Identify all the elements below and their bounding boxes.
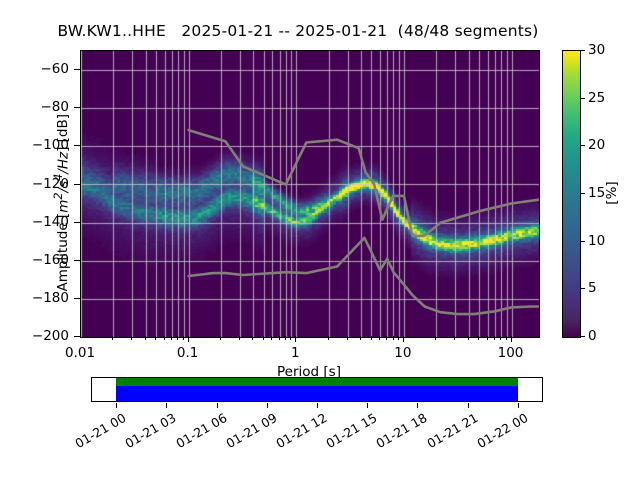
timeline-tick	[217, 403, 218, 408]
ppsd-axes[interactable]	[80, 50, 540, 338]
x-tick	[360, 336, 361, 340]
y-tick	[74, 107, 80, 108]
timeline-tick-label: 01-21 06	[173, 410, 229, 451]
y-tick	[74, 184, 80, 185]
x-tick	[155, 336, 156, 340]
x-tick	[478, 336, 479, 340]
x-tick	[220, 336, 221, 340]
timeline-tick-label: 01-21 18	[374, 410, 430, 451]
x-tick	[295, 336, 296, 342]
x-tick	[290, 336, 291, 340]
x-tick	[454, 336, 455, 340]
colorbar-tick-label: 5	[588, 280, 597, 296]
y-tick	[74, 69, 80, 70]
x-tick	[487, 336, 488, 340]
x-tick-label: 1	[291, 345, 300, 361]
timeline-tick-label: 01-21 12	[273, 410, 329, 451]
y-tick	[74, 260, 80, 261]
x-tick-label: 0.01	[65, 345, 95, 361]
colorbar-tick	[580, 50, 585, 51]
colorbar-tick	[580, 288, 585, 289]
colorbar-tick	[580, 145, 585, 146]
y-tick	[74, 145, 80, 146]
x-tick	[131, 336, 132, 340]
x-tick	[494, 336, 495, 340]
data-coverage-timeline[interactable]	[91, 377, 543, 402]
blue-coverage-bar[interactable]	[116, 386, 518, 401]
x-tick	[379, 336, 380, 340]
x-tick	[145, 336, 146, 340]
timeline-tick	[367, 403, 368, 408]
timeline-tick	[468, 403, 469, 408]
x-tick	[188, 336, 189, 342]
x-tick	[279, 336, 280, 340]
x-tick	[347, 336, 348, 340]
x-tick	[386, 336, 387, 340]
colorbar-tick-label: 0	[588, 328, 597, 344]
x-tick	[403, 336, 404, 342]
timeline-tick	[317, 403, 318, 408]
x-tick	[500, 336, 501, 340]
timeline-tick-label: 01-21 03	[123, 410, 179, 451]
timeline-tick	[518, 403, 519, 408]
x-tick	[177, 336, 178, 340]
green-coverage-bar[interactable]	[116, 378, 518, 386]
x-tick	[398, 336, 399, 340]
nlnm-curve	[189, 238, 539, 314]
y-tick	[74, 222, 80, 223]
colorbar-tick-label: 30	[588, 42, 605, 58]
x-tick	[393, 336, 394, 340]
timeline-tick	[417, 403, 418, 408]
timeline-tick-label: 01-22 00	[474, 410, 530, 451]
x-tick	[171, 336, 172, 340]
timeline-tick-label: 01-21 21	[424, 410, 480, 451]
y-tick	[74, 298, 80, 299]
x-tick-label: 10	[394, 345, 411, 361]
y-axis-title: Amplitude [m2/s4/Hz] [dB]	[51, 60, 71, 346]
colorbar-tick-label: 10	[588, 233, 605, 249]
x-tick	[271, 336, 272, 340]
colorbar-tick	[580, 241, 585, 242]
page-title: BW.KW1..HHE 2025-01-21 -- 2025-01-21 (48…	[0, 22, 596, 40]
colorbar-tick-label: 25	[588, 90, 605, 106]
x-tick-label: 0.1	[177, 345, 198, 361]
x-tick	[112, 336, 113, 340]
x-tick	[183, 336, 184, 340]
x-tick	[371, 336, 372, 340]
colorbar[interactable]	[562, 50, 581, 338]
timeline-tick	[166, 403, 167, 408]
x-tick	[285, 336, 286, 340]
colorbar-tick	[580, 336, 585, 337]
colorbar-tick	[580, 98, 585, 99]
x-tick	[239, 336, 240, 340]
x-tick	[506, 336, 507, 340]
colorbar-title: [%]	[604, 181, 620, 204]
x-tick	[252, 336, 253, 340]
noise-model-layer	[81, 51, 539, 337]
x-tick	[263, 336, 264, 340]
colorbar-tick-label: 15	[588, 185, 605, 201]
timeline-tick	[116, 403, 117, 408]
x-tick	[328, 336, 329, 340]
x-tick	[511, 336, 512, 342]
x-tick	[164, 336, 165, 340]
colorbar-tick-label: 20	[588, 137, 605, 153]
x-tick-label: 100	[498, 345, 524, 361]
timeline-tick-label: 01-21 00	[72, 410, 128, 451]
timeline-tick-label: 01-21 15	[323, 410, 379, 451]
y-tick	[74, 336, 80, 337]
timeline-tick-label: 01-21 09	[223, 410, 279, 451]
nhnm-curve	[189, 130, 539, 236]
timeline-tick	[267, 403, 268, 408]
x-tick	[435, 336, 436, 340]
colorbar-tick	[580, 193, 585, 194]
x-tick	[468, 336, 469, 340]
